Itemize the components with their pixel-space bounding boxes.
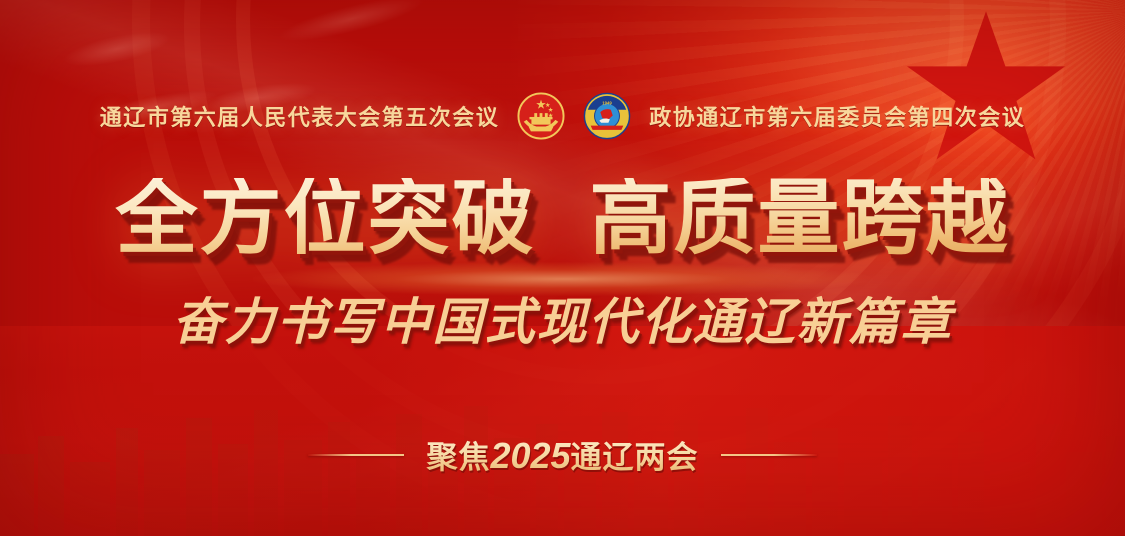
tagline-rule-right — [721, 454, 817, 456]
sub-title: 奋力书写中国式现代化通辽新篇章 — [0, 295, 1125, 350]
main-title-part1: 全方位突破 — [115, 173, 535, 264]
tagline-suffix: 通辽两会 — [571, 440, 699, 475]
tagline-year: 2025 — [490, 435, 570, 476]
header-row: 通辽市第六届人民代表大会第五次会议 — [0, 92, 1125, 140]
cppcc-year-label: 1949 — [602, 100, 612, 105]
tagline: 聚焦2025通辽两会 — [426, 432, 698, 477]
tagline-prefix: 聚焦 — [426, 440, 490, 475]
two-sessions-banner: 通辽市第六届人民代表大会第五次会议 — [0, 0, 1125, 536]
tagline-rule-left — [308, 454, 404, 456]
cppcc-meeting-title: 政协通辽市第六届委员会第四次会议 — [649, 100, 1025, 132]
banner-content: 通辽市第六届人民代表大会第五次会议 — [0, 0, 1125, 536]
main-title: 全方位突破高质量跨越 — [0, 178, 1125, 260]
title-glow — [253, 262, 873, 296]
national-emblem-of-china-icon — [517, 92, 565, 140]
tagline-row: 聚焦2025通辽两会 — [0, 432, 1125, 477]
npc-meeting-title: 通辽市第六届人民代表大会第五次会议 — [100, 100, 500, 132]
main-title-part2: 高质量跨越 — [590, 173, 1010, 264]
cppcc-emblem-icon: 1949 — [583, 92, 631, 140]
